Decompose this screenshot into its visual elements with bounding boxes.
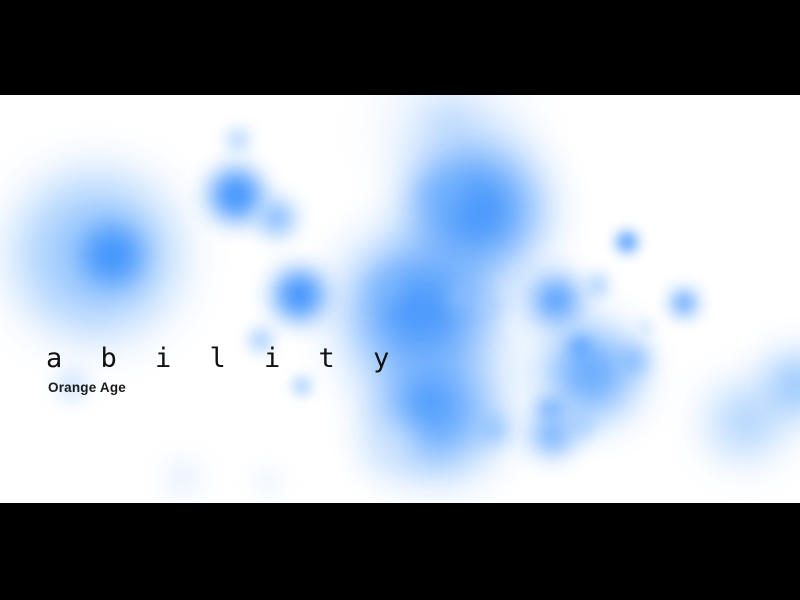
subtitle: Orange Age bbox=[48, 381, 400, 395]
bokeh-circle bbox=[571, 337, 589, 355]
bokeh-circle bbox=[480, 298, 498, 316]
bokeh-circle bbox=[256, 471, 280, 495]
bokeh-layer bbox=[0, 95, 800, 503]
bokeh-circle bbox=[167, 462, 199, 494]
bokeh-circle bbox=[481, 416, 507, 442]
bokeh-circle bbox=[621, 347, 647, 373]
bokeh-circle bbox=[533, 277, 579, 323]
bokeh-circle bbox=[210, 169, 262, 221]
bokeh-circle bbox=[376, 276, 400, 300]
bokeh-circle bbox=[260, 201, 294, 235]
bokeh-circle bbox=[569, 413, 593, 437]
bokeh-circle bbox=[368, 425, 412, 469]
letterbox-bar-top bbox=[0, 0, 800, 95]
bokeh-circle bbox=[411, 382, 443, 414]
bokeh-circle bbox=[533, 416, 571, 454]
title-block: a b i l i t y Orange Age bbox=[46, 345, 400, 395]
bokeh-circle bbox=[672, 291, 696, 315]
bokeh-circle bbox=[588, 275, 608, 295]
bokeh-circle bbox=[711, 388, 779, 456]
bokeh-circle bbox=[617, 232, 637, 252]
bokeh-circle bbox=[82, 225, 142, 285]
bokeh-circle bbox=[429, 103, 469, 143]
content-band: a b i l i t y Orange Age bbox=[0, 95, 800, 503]
bokeh-circle bbox=[274, 270, 324, 320]
bokeh-circle bbox=[639, 321, 651, 333]
letterbox-bar-bottom bbox=[0, 503, 800, 600]
bokeh-circle bbox=[450, 284, 476, 310]
page-title: a b i l i t y bbox=[46, 345, 400, 372]
bokeh-circle bbox=[537, 399, 555, 417]
title-card: a b i l i t y Orange Age bbox=[0, 0, 800, 600]
bokeh-circle bbox=[421, 173, 465, 217]
bokeh-circle bbox=[227, 129, 249, 151]
